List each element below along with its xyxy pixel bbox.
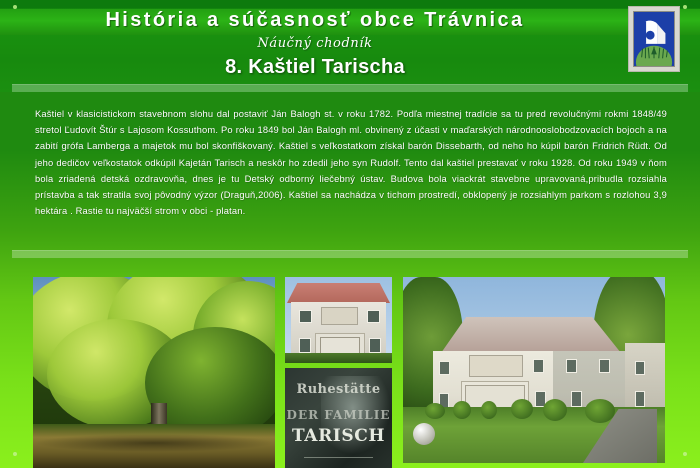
corner-dot-bottom-left [13,452,17,456]
gravestone-line-3: TARISCH [285,426,392,446]
photo-tarisch-grave: Ruhestätte DER FAMILIE TARISCH [285,368,392,468]
bush [425,403,445,419]
window [439,361,450,375]
tree-shadow [33,434,275,452]
lawn [285,353,392,363]
bush [453,401,471,419]
photo-manor-facade-canvas [285,277,392,363]
photo-platan-tree-canvas [33,277,275,468]
slide-header: História a súčasnosť obce Trávnica Náučn… [0,0,700,92]
window [635,391,645,407]
corner-dot-bottom-right [683,452,687,456]
header-divider-bar [12,84,688,92]
bush [481,401,497,419]
window [571,391,582,407]
window [533,359,544,373]
photo-manor-full [403,277,665,463]
window [566,359,577,373]
bush [585,399,615,423]
roof [441,317,621,353]
page-title: História a súčasnosť obce Trávnica [0,7,700,33]
gravestone-rule [304,457,372,458]
coat-of-arms-icon [633,11,675,67]
photos-divider-bar [12,250,688,258]
coat-of-arms-frame [628,6,680,72]
gravestone-line-1: Ruhestätte [285,382,392,397]
presentation-slide: História a súčasnosť obce Trávnica Náučn… [0,0,700,468]
bush [511,399,533,419]
subtitle: Náučný chodník [0,36,700,51]
photo-platan-tree [33,277,275,468]
window [599,359,610,373]
window [299,338,311,353]
roof [287,283,390,303]
body-paragraph: Kaštiel v klasicistickom stavebnom slohu… [35,106,667,219]
window [299,310,312,323]
bush [543,399,567,421]
section-title: 8. Kaštiel Tarischa [0,56,700,79]
corner-dot-top-right [683,5,687,9]
garden-sphere-ornament [413,423,435,445]
corner-dot-top-left [13,5,17,9]
photo-tarisch-grave-canvas: Ruhestätte DER FAMILIE TARISCH [285,368,392,468]
balcony [469,355,523,377]
gravestone-line-2: DER FAMILIE [285,408,392,422]
window [635,361,645,375]
balcony [321,307,358,325]
window [367,310,380,323]
window [369,338,381,353]
photo-manor-full-canvas [403,277,665,463]
crest-svg [634,12,674,66]
photo-manor-facade [285,277,392,363]
